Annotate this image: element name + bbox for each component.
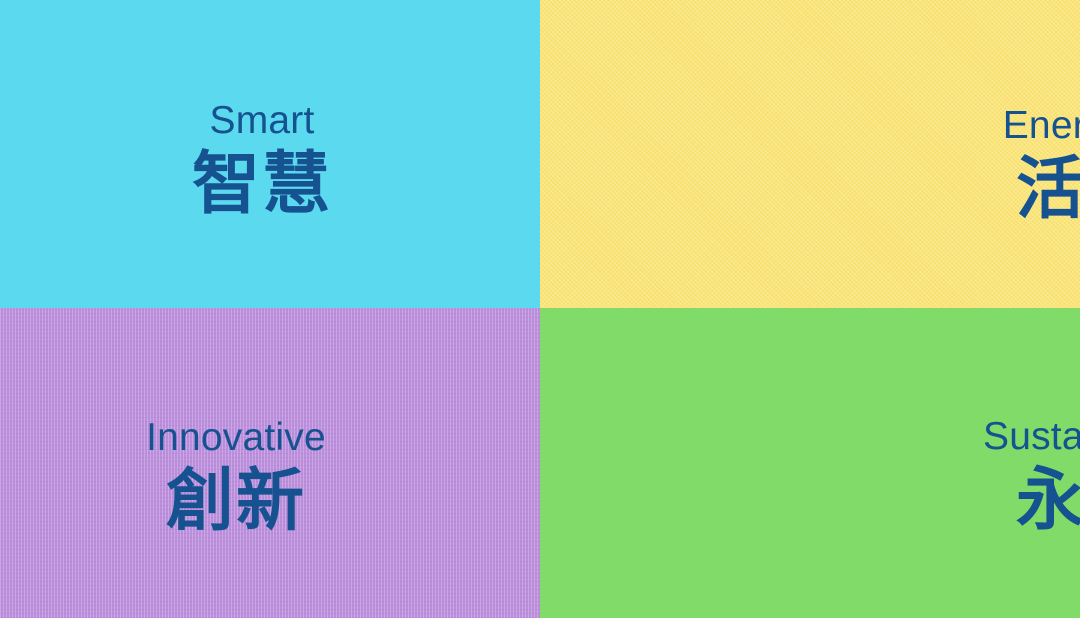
quadrant-sustainable: Sustainable 永續 (540, 308, 1080, 618)
label-zh-energetic: 活力 (1016, 153, 1080, 226)
quadrant-sustainable-content: Sustainable 永續 (983, 417, 1080, 537)
label-en-innovative: Innovative (146, 418, 326, 459)
brand-values-grid: Smart 智慧 Energetic 活力 Innovative 創新 Sust… (0, 0, 1080, 618)
quadrant-smart-content: Smart 智慧 (192, 101, 332, 221)
label-en-smart: Smart (209, 101, 314, 142)
quadrant-energetic-content: Energetic 活力 (1003, 106, 1080, 226)
label-en-sustainable: Sustainable (983, 417, 1080, 458)
label-zh-smart: 智慧 (192, 148, 332, 221)
texture-overlay-energetic (540, 0, 1080, 308)
label-zh-sustainable: 永續 (1016, 464, 1080, 537)
label-en-energetic: Energetic (1003, 106, 1080, 147)
quadrant-innovative-content: Innovative 創新 (146, 418, 326, 538)
label-zh-innovative: 創新 (166, 465, 306, 538)
quadrant-innovative: Innovative 創新 (0, 308, 540, 618)
quadrant-smart: Smart 智慧 (0, 0, 540, 308)
quadrant-energetic: Energetic 活力 (540, 0, 1080, 308)
